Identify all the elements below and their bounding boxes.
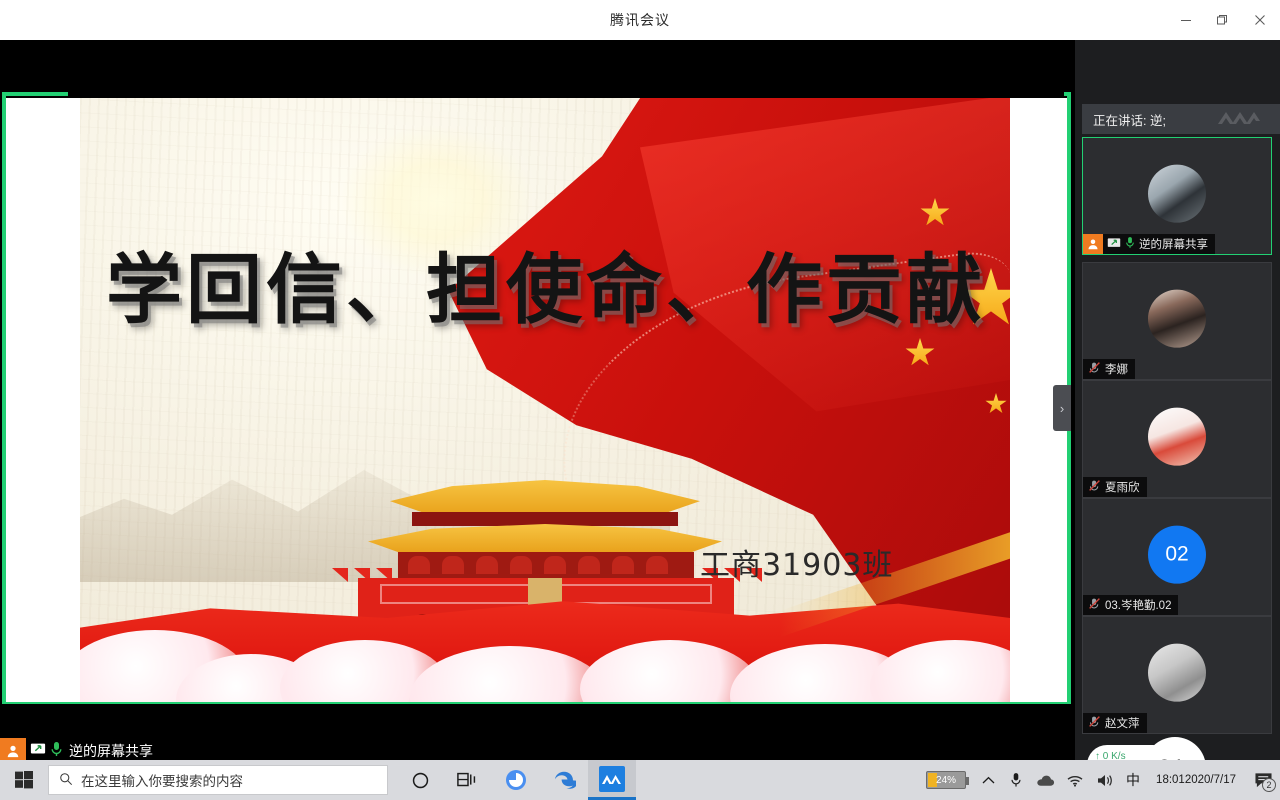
search-icon <box>59 772 73 789</box>
network-tray-button[interactable] <box>1060 760 1090 800</box>
microphone-icon <box>1125 236 1135 252</box>
battery-tray-indicator[interactable]: 24% <box>918 760 974 800</box>
participant-namebar: 李娜 <box>1083 359 1135 379</box>
microphone-icon <box>1010 772 1022 788</box>
wifi-icon <box>1066 773 1084 787</box>
search-placeholder: 在这里输入你要搜索的内容 <box>81 770 243 790</box>
avatar <box>1148 165 1206 223</box>
slide-subtitle: 工商31903班 <box>700 540 960 584</box>
tencent-meeting-button[interactable] <box>588 760 636 800</box>
screen-root: 腾讯会议 <box>0 0 1280 800</box>
clock[interactable]: 18:01 2020/7/17 <box>1146 760 1246 800</box>
windows-logo-icon <box>15 771 33 789</box>
slide-title: 学回信、担使命、作贡献 <box>90 228 1002 338</box>
participant-name: 03.岑艳勤.02 <box>1105 597 1171 613</box>
tencent-meeting-watermark-icon <box>1216 108 1260 128</box>
close-button[interactable] <box>1240 0 1280 40</box>
task-view-button[interactable] <box>444 760 492 800</box>
participant-namebar: 夏雨欣 <box>1083 477 1147 497</box>
participant-namebar: 03.岑艳勤.02 <box>1083 595 1178 615</box>
clock-date: 2020/7/17 <box>1185 773 1236 787</box>
microphone-icon <box>50 741 63 762</box>
chevron-up-icon <box>982 776 995 785</box>
microphone-muted-icon <box>1088 479 1101 495</box>
presentation-slide[interactable]: 学回信、担使命、作贡献 <box>80 98 1010 702</box>
cloud-icon <box>1036 774 1055 787</box>
participant-tile[interactable]: 赵文萍 <box>1082 616 1272 734</box>
avatar <box>1148 290 1206 348</box>
windows-taskbar: 在这里输入你要搜索的内容 <box>0 760 1280 800</box>
speaking-label: 正在讲话: 逆; <box>1093 110 1166 129</box>
battery-icon: 24% <box>926 771 966 789</box>
gate-portrait-panel <box>528 578 562 606</box>
system-tray: 24% <box>918 760 1280 800</box>
edge-browser-icon <box>552 768 576 792</box>
chevron-right-icon: › <box>1060 401 1064 416</box>
avatar-initials: 02 <box>1165 543 1188 567</box>
collapse-panel-button[interactable]: › <box>1053 385 1071 431</box>
window-titlebar: 腾讯会议 <box>0 0 1280 40</box>
participant-name: 赵文萍 <box>1105 715 1140 731</box>
participants-panel: 正在讲话: 逆; <box>1075 40 1280 760</box>
maximize-button[interactable] <box>1204 0 1240 40</box>
speaker-icon <box>1096 773 1114 788</box>
screen-share-owner-label: 逆的屏幕共享 <box>69 741 153 761</box>
screen-share-icon <box>30 742 46 761</box>
microphone-tray-button[interactable] <box>1002 760 1030 800</box>
participant-tile[interactable]: 夏雨欣 <box>1082 380 1272 498</box>
gate-colonnade <box>398 552 694 578</box>
participant-tile[interactable]: 李娜 <box>1082 262 1272 380</box>
participant-name: 夏雨欣 <box>1105 479 1140 495</box>
ime-indicator[interactable]: 中 <box>1120 760 1146 800</box>
frame-top-right-segment <box>1064 92 1071 96</box>
cortana-icon <box>411 771 430 790</box>
start-button[interactable] <box>0 760 48 800</box>
gate-roof-band <box>412 512 678 526</box>
participant-namebar: 逆的屏幕共享 <box>1083 234 1215 254</box>
tencent-meeting-icon <box>599 766 625 792</box>
cortana-button[interactable] <box>396 760 444 800</box>
participant-name: 李娜 <box>1105 361 1128 377</box>
participant-namebar: 赵文萍 <box>1083 713 1147 733</box>
gate-upper-roof <box>390 480 700 514</box>
search-input[interactable]: 在这里输入你要搜索的内容 <box>48 765 388 795</box>
window-title: 腾讯会议 <box>610 10 670 30</box>
avatar <box>1148 644 1206 702</box>
onedrive-tray-button[interactable] <box>1030 760 1060 800</box>
clock-app-icon <box>504 768 528 792</box>
frame-top-left-segment <box>2 92 68 96</box>
avatar <box>1148 408 1206 466</box>
clock-app-button[interactable] <box>492 760 540 800</box>
participant-tile[interactable]: 逆的屏幕共享 <box>1082 137 1272 255</box>
notification-count: 2 <box>1262 778 1276 792</box>
show-hidden-icons-button[interactable] <box>974 760 1002 800</box>
speaking-banner: 正在讲话: 逆; <box>1082 104 1280 134</box>
task-view-icon <box>457 771 479 789</box>
minimize-button[interactable] <box>1168 0 1204 40</box>
microphone-muted-icon <box>1088 597 1101 613</box>
notification-center-button[interactable]: 2 <box>1246 760 1280 800</box>
avatar: 02 <box>1148 526 1206 584</box>
microphone-muted-icon <box>1088 715 1101 731</box>
participant-name: 逆的屏幕共享 <box>1139 236 1208 252</box>
screen-share-icon <box>1107 237 1121 252</box>
battery-percent-label: 24% <box>936 775 956 786</box>
participant-icon <box>1083 234 1103 254</box>
meeting-body: 学回信、担使命、作贡献 <box>0 40 1280 760</box>
microphone-muted-icon <box>1088 361 1101 377</box>
edge-browser-button[interactable] <box>540 760 588 800</box>
clock-time: 18:01 <box>1156 773 1185 787</box>
volume-tray-button[interactable] <box>1090 760 1120 800</box>
participant-tile[interactable]: 02 03.岑艳勤.02 <box>1082 498 1272 616</box>
window-controls <box>1168 0 1280 40</box>
gate-lower-roof <box>368 524 722 554</box>
